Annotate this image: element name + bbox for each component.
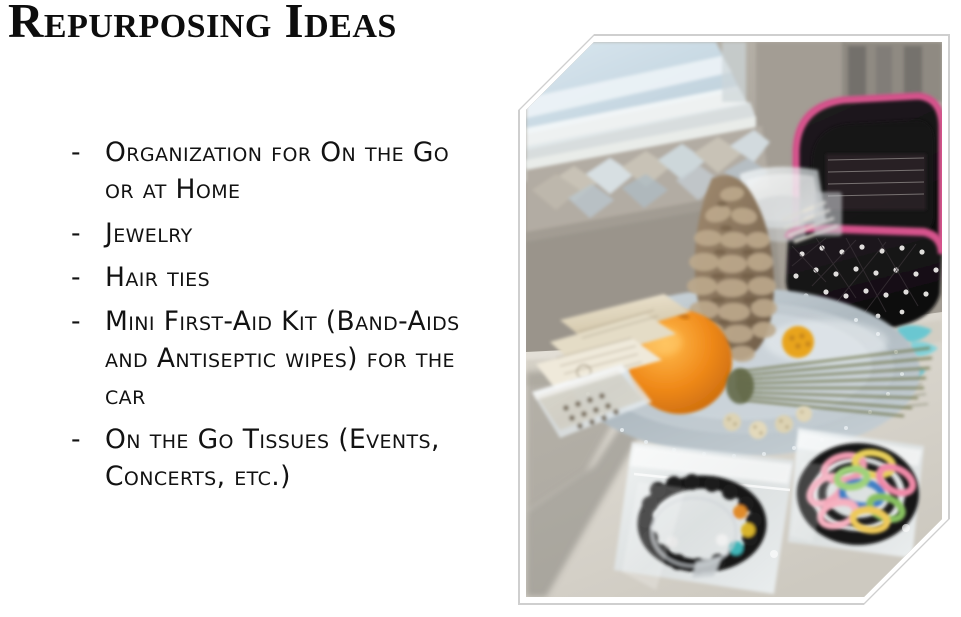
- list-item: - Jewelry: [66, 215, 486, 252]
- bullet-dash-icon: -: [71, 215, 81, 252]
- list-item-label: Jewelry: [105, 215, 486, 252]
- slide-canvas: Repurposing Ideas - Organization for On …: [0, 0, 961, 617]
- photo-illustration: [526, 42, 942, 597]
- list-item-label: On the Go Tissues (Events, Concerts, etc…: [105, 421, 486, 495]
- page-title: Repurposing Ideas: [8, 0, 397, 49]
- list-item: - On the Go Tissues (Events, Concerts, e…: [66, 421, 486, 495]
- bullet-dash-icon: -: [71, 303, 81, 340]
- photo-image: [526, 42, 942, 597]
- bullet-dash-icon: -: [71, 259, 81, 296]
- bullet-dash-icon: -: [71, 421, 81, 458]
- list-item: - Organization for On the Go or at Home: [66, 134, 486, 208]
- list-item-label: Hair ties: [105, 259, 486, 296]
- bullet-list: - Organization for On the Go or at Home …: [66, 134, 486, 502]
- list-item: - Hair ties: [66, 259, 486, 296]
- list-item: - Mini First-Aid Kit (Band-Aids and Anti…: [66, 303, 486, 414]
- list-item-label: Mini First-Aid Kit (Band-Aids and Antise…: [105, 303, 486, 414]
- photo-frame: [518, 34, 950, 605]
- bullet-dash-icon: -: [71, 134, 81, 171]
- list-item-label: Organization for On the Go or at Home: [105, 134, 486, 208]
